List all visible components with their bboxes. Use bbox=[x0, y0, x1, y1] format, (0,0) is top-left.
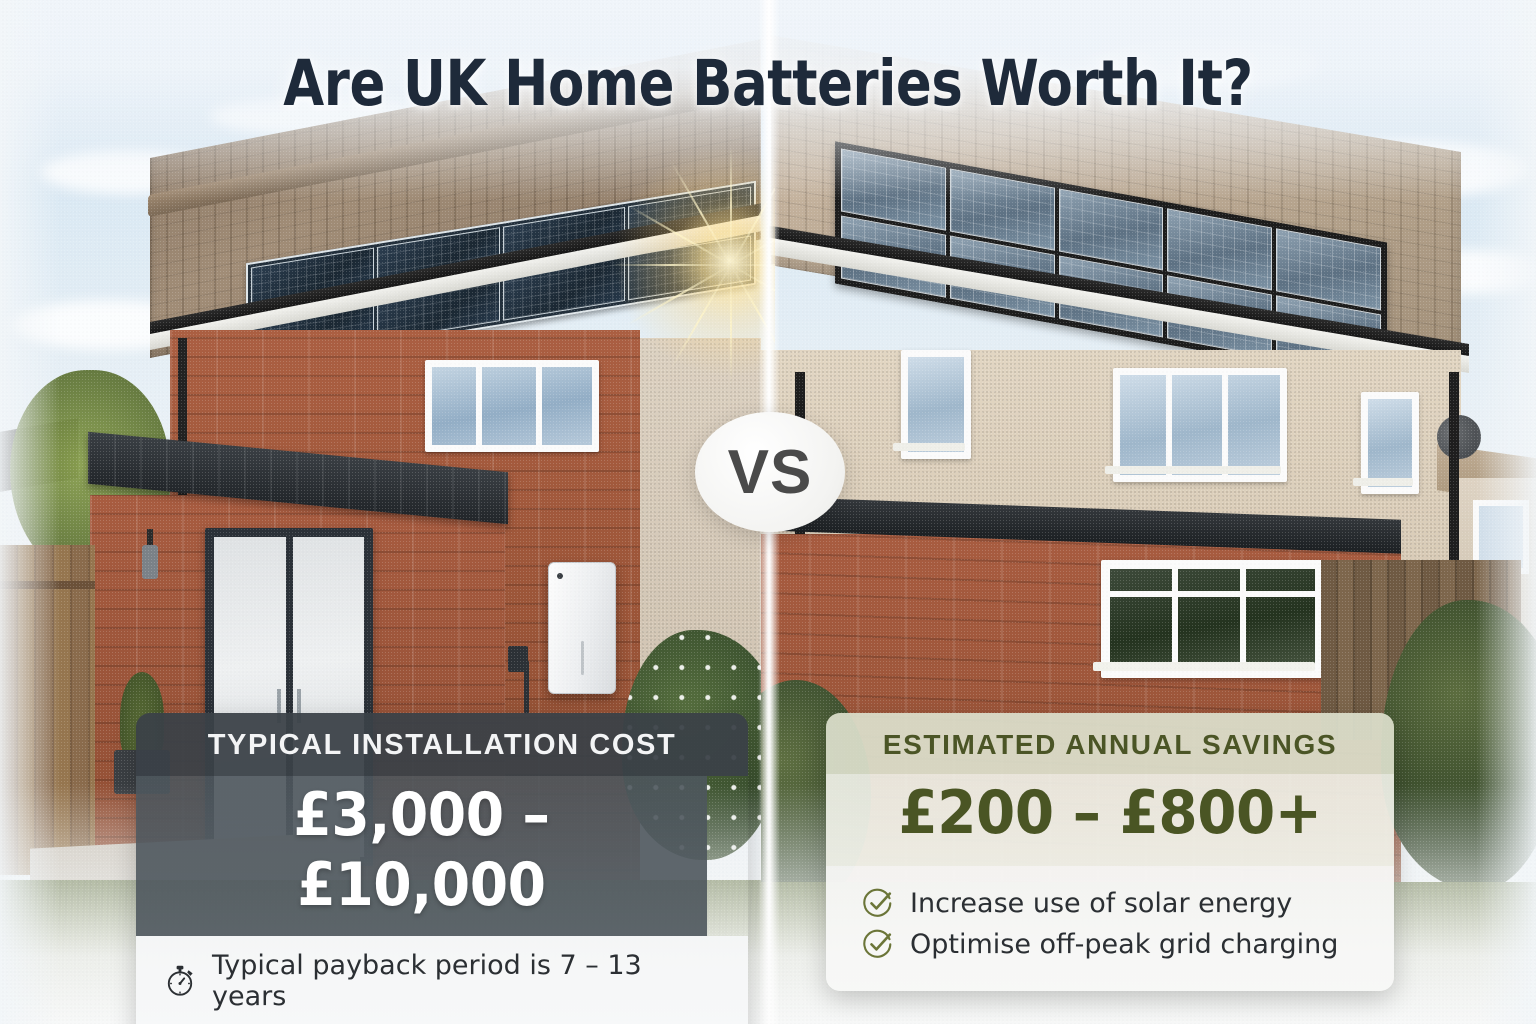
right-edge-fade bbox=[1476, 0, 1536, 1024]
annual-savings-benefits: Increase use of solar energy Optimise of… bbox=[826, 866, 1394, 991]
infographic-canvas: Are UK Home Batteries Worth It? VS TYPIC… bbox=[0, 0, 1536, 1024]
annual-savings-value: £200 – £800+ bbox=[898, 778, 1321, 848]
battery-status-led bbox=[557, 573, 563, 579]
outdoor-wall-lamp bbox=[142, 545, 158, 579]
check-circle-icon bbox=[862, 887, 894, 919]
benefit-item: Increase use of solar energy bbox=[862, 887, 1358, 919]
installation-cost-value: £3,000 – £10,000 bbox=[168, 780, 675, 920]
benefit-text: Optimise off-peak grid charging bbox=[910, 929, 1338, 960]
upstairs-window bbox=[425, 360, 599, 452]
vs-badge-label: VS bbox=[728, 437, 813, 508]
annual-savings-heading: ESTIMATED ANNUAL SAVINGS bbox=[883, 729, 1337, 760]
payback-period-text: Typical payback period is 7 – 13 years bbox=[212, 950, 720, 1012]
installation-cost-heading: TYPICAL INSTALLATION COST bbox=[208, 729, 677, 761]
installation-cost-value-band: £3,000 – £10,000 bbox=[136, 776, 707, 936]
window-sill bbox=[1105, 466, 1281, 474]
window-sill bbox=[1093, 662, 1315, 671]
stopwatch-icon bbox=[164, 964, 198, 998]
page-title: Are UK Home Batteries Worth It? bbox=[123, 47, 1413, 120]
left-edge-fade bbox=[0, 0, 60, 1024]
benefit-text: Increase use of solar energy bbox=[910, 888, 1292, 919]
annual-savings-card: ESTIMATED ANNUAL SAVINGS £200 – £800+ In… bbox=[826, 713, 1394, 991]
home-battery-unit bbox=[548, 562, 616, 694]
benefit-item: Optimise off-peak grid charging bbox=[862, 928, 1358, 960]
check-circle-icon bbox=[862, 928, 894, 960]
window-sill bbox=[893, 443, 965, 451]
battery-cable bbox=[524, 660, 529, 714]
window-sill bbox=[1353, 478, 1413, 486]
extension-window bbox=[1101, 560, 1324, 678]
annual-savings-header: ESTIMATED ANNUAL SAVINGS bbox=[826, 713, 1394, 774]
installation-cost-card: TYPICAL INSTALLATION COST £3,000 – £10,0… bbox=[136, 713, 748, 1024]
payback-period-note: Typical payback period is 7 – 13 years bbox=[164, 950, 720, 1012]
installation-cost-footer: Typical payback period is 7 – 13 years H… bbox=[136, 936, 748, 1024]
vs-badge: VS bbox=[695, 412, 845, 532]
annual-savings-value-band: £200 – £800+ bbox=[826, 774, 1394, 866]
installation-cost-header: TYPICAL INSTALLATION COST bbox=[136, 713, 748, 776]
upstairs-window-center bbox=[1113, 368, 1287, 482]
